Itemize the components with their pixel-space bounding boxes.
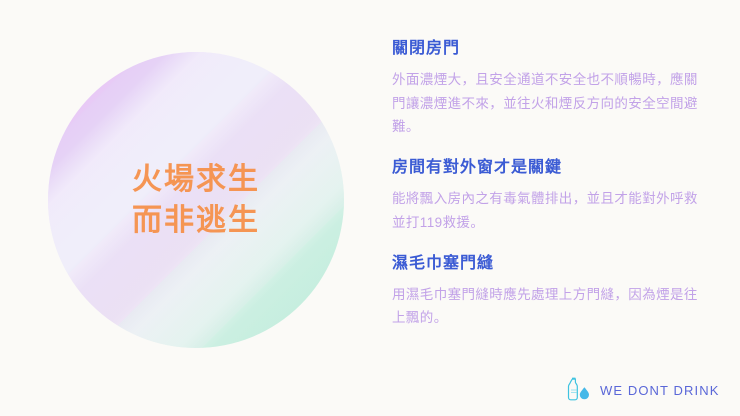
hero-title-line-2: 而非逃生 [132,200,260,241]
hero-title-line-1: 火場求生 [132,159,260,200]
tip-block: 濕毛巾塞門縫 用濕毛巾塞門縫時應先處理上方門縫，因為煙是往上飄的。 [392,253,698,330]
tip-block: 關閉房門 外面濃煙大，且安全通道不安全也不順暢時，應關門讓濃煙進不來，並往火和煙… [392,38,698,138]
brand-logo: WE DONT DRINK [563,377,720,403]
tip-heading: 房間有對外窗才是關鍵 [392,157,698,179]
tip-heading: 濕毛巾塞門縫 [392,253,698,275]
tip-heading: 關閉房門 [392,38,698,60]
brand-name: WE DONT DRINK [600,383,720,398]
hero-panel: 火場求生 而非逃生 [0,0,370,416]
hero-title: 火場求生 而非逃生 [48,52,344,348]
tip-body: 用濕毛巾塞門縫時應先處理上方門縫，因為煙是往上飄的。 [392,283,698,329]
tip-block: 房間有對外窗才是關鍵 能將飄入房內之有毒氣體排出，並且才能對外呼救並打119救援… [392,157,698,234]
tips-panel: 關閉房門 外面濃煙大，且安全通道不安全也不順暢時，應關門讓濃煙進不來，並往火和煙… [392,38,698,330]
tip-body: 外面濃煙大，且安全通道不安全也不順暢時，應關門讓濃煙進不來，並往火和煙反方向的安… [392,68,698,138]
tip-body: 能將飄入房內之有毒氣體排出，並且才能對外呼救並打119救援。 [392,187,698,233]
bottle-icon [563,377,593,403]
